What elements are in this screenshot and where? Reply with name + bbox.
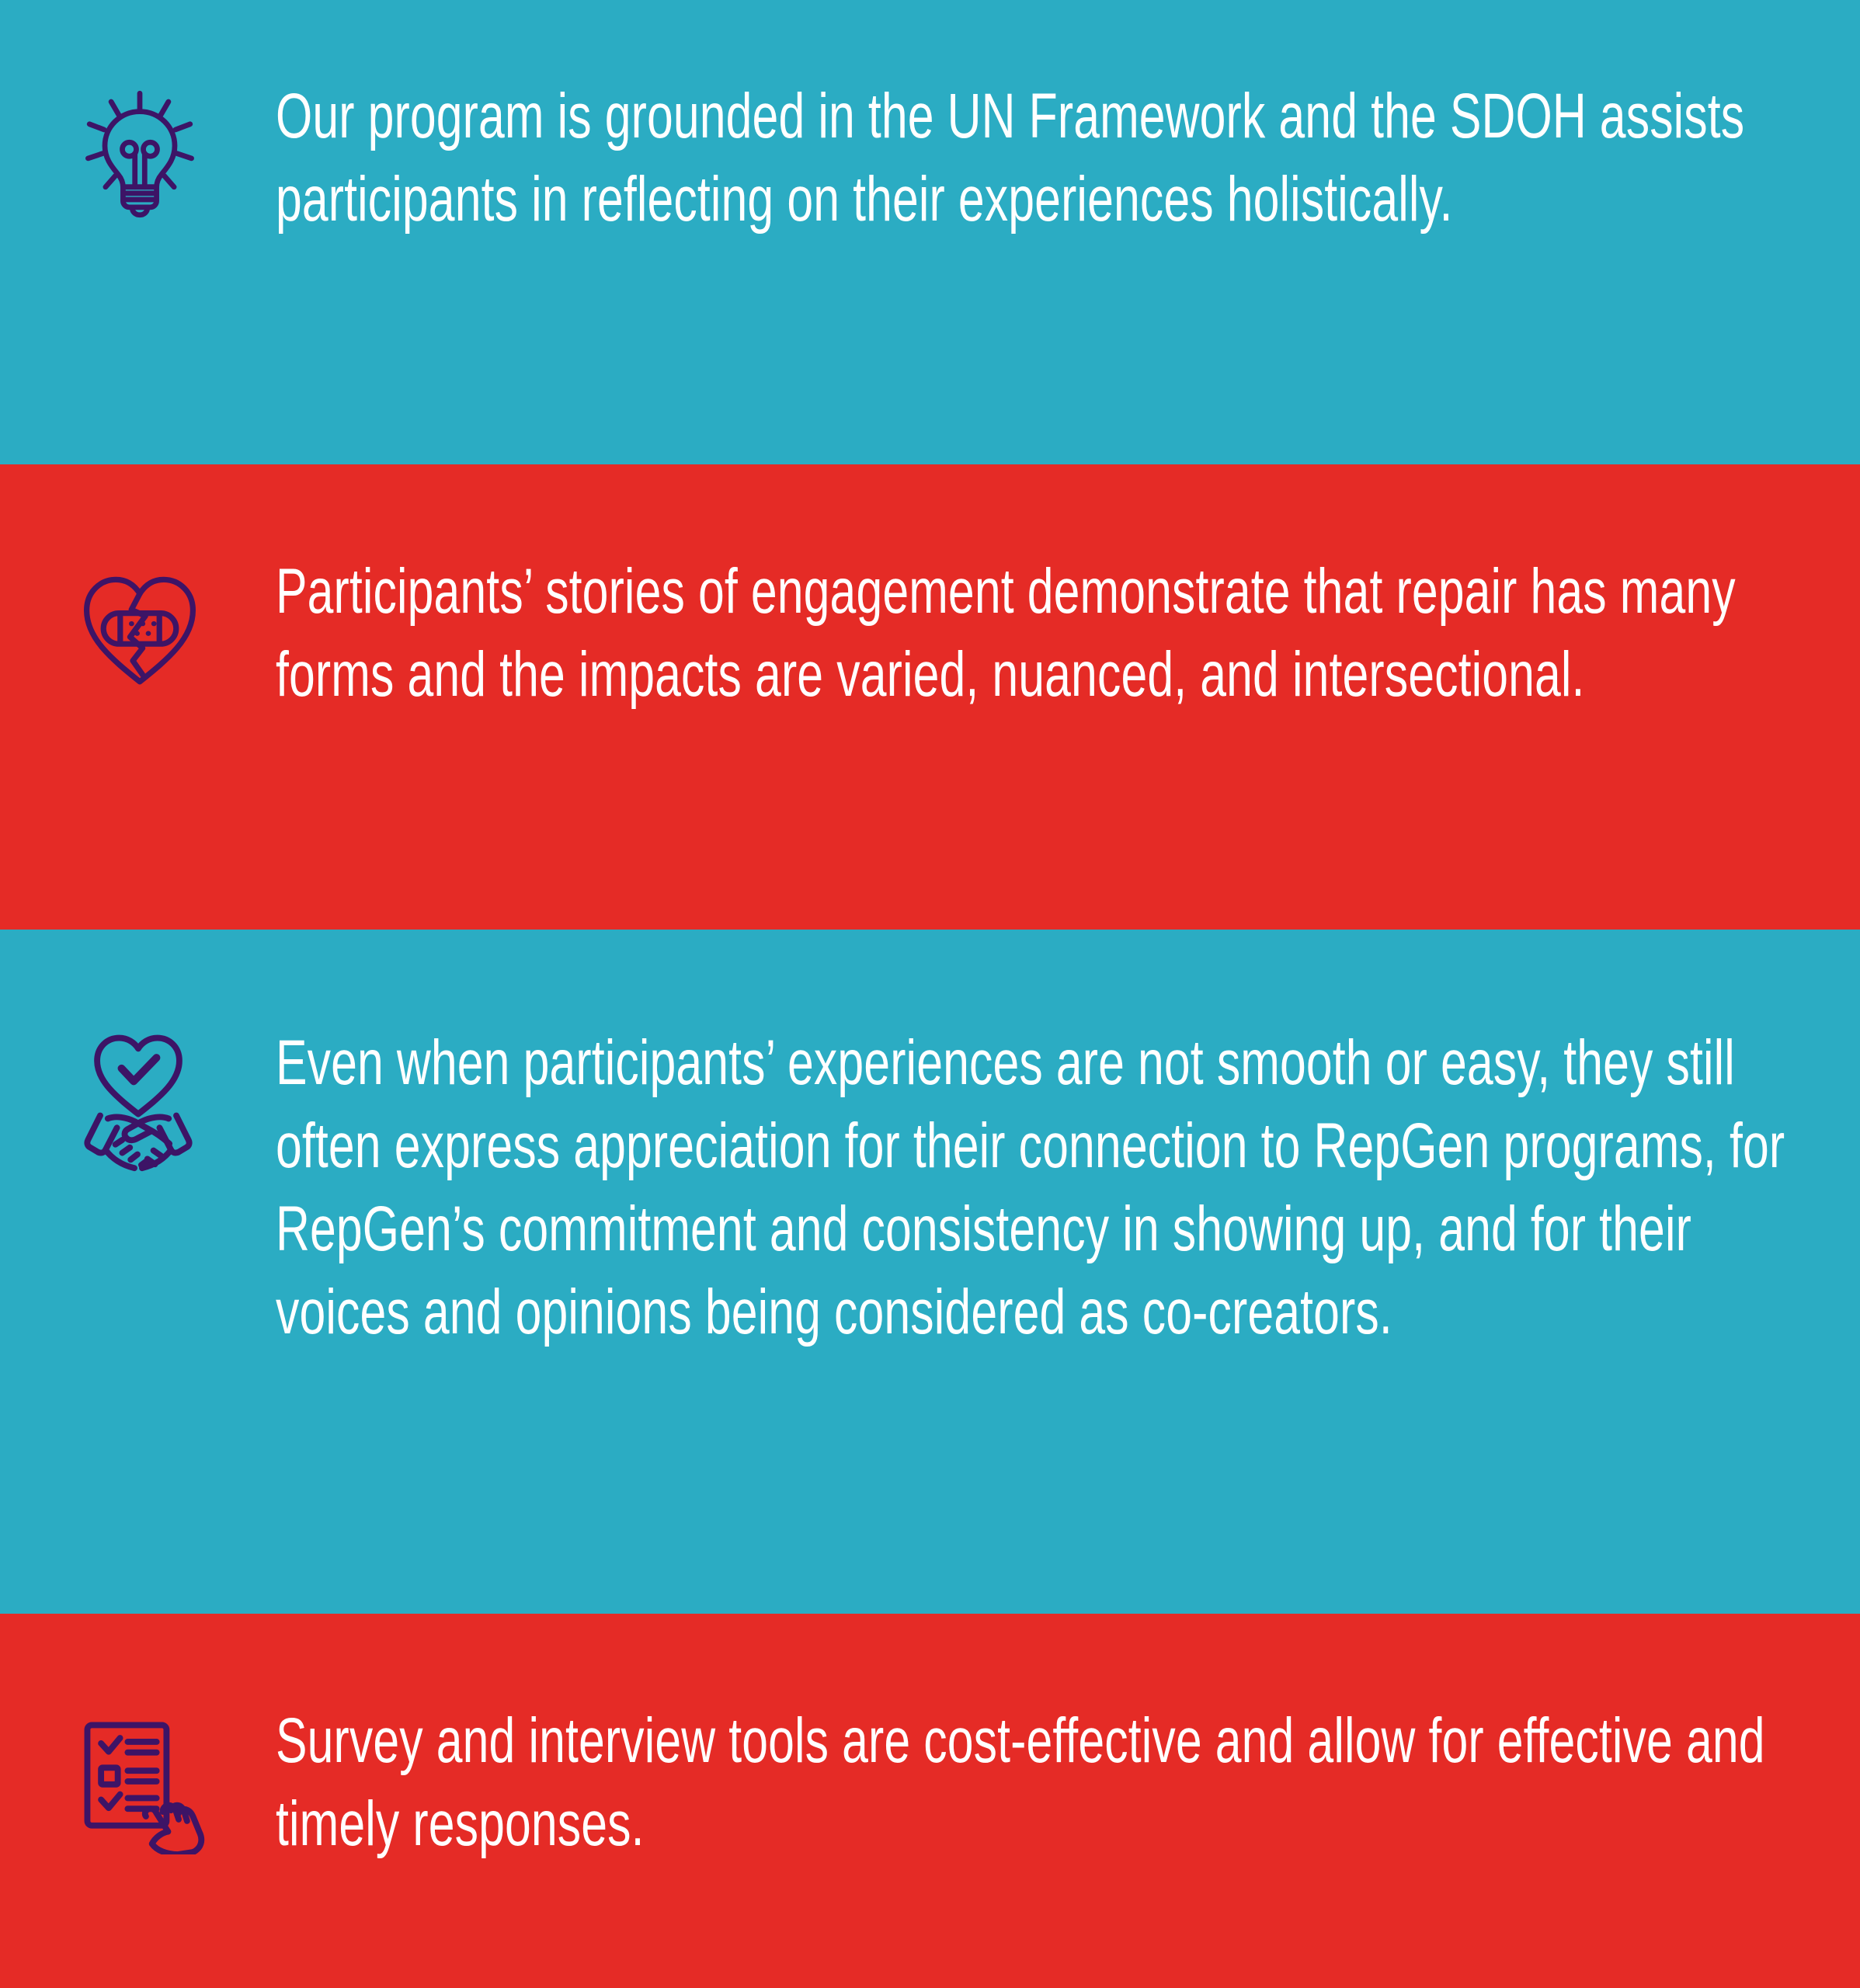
handshake-heart-check-icon: [62, 1021, 214, 1173]
icon-column: [0, 1021, 276, 1173]
text-column: Participants’ stories of engagement demo…: [276, 550, 1860, 716]
infographic-page: Our program is grounded in the UN Framew…: [0, 0, 1860, 1988]
icon-column: [0, 550, 276, 694]
statement-text: Participants’ stories of engagement demo…: [276, 550, 1812, 716]
statement-text: Our program is grounded in the UN Framew…: [276, 75, 1812, 241]
statement-text: Survey and interview tools are cost-effe…: [276, 1699, 1812, 1865]
text-column: Even when participants’ experiences are …: [276, 1021, 1860, 1354]
statement-band-2: Participants’ stories of engagement demo…: [0, 464, 1860, 930]
text-column: Survey and interview tools are cost-effe…: [276, 1699, 1860, 1865]
icon-column: [0, 75, 276, 221]
survey-checklist-hand-icon: [67, 1702, 219, 1854]
icon-column: [0, 1699, 276, 1854]
statement-band-1: Our program is grounded in the UN Framew…: [0, 0, 1860, 464]
statement-band-4: Survey and interview tools are cost-effe…: [0, 1614, 1860, 1988]
statement-band-3: Even when participants’ experiences are …: [0, 930, 1860, 1614]
lightbulb-idea-icon: [70, 81, 210, 221]
text-column: Our program is grounded in the UN Framew…: [276, 75, 1860, 241]
broken-heart-bandage-icon: [70, 554, 210, 694]
statement-text: Even when participants’ experiences are …: [276, 1021, 1812, 1354]
